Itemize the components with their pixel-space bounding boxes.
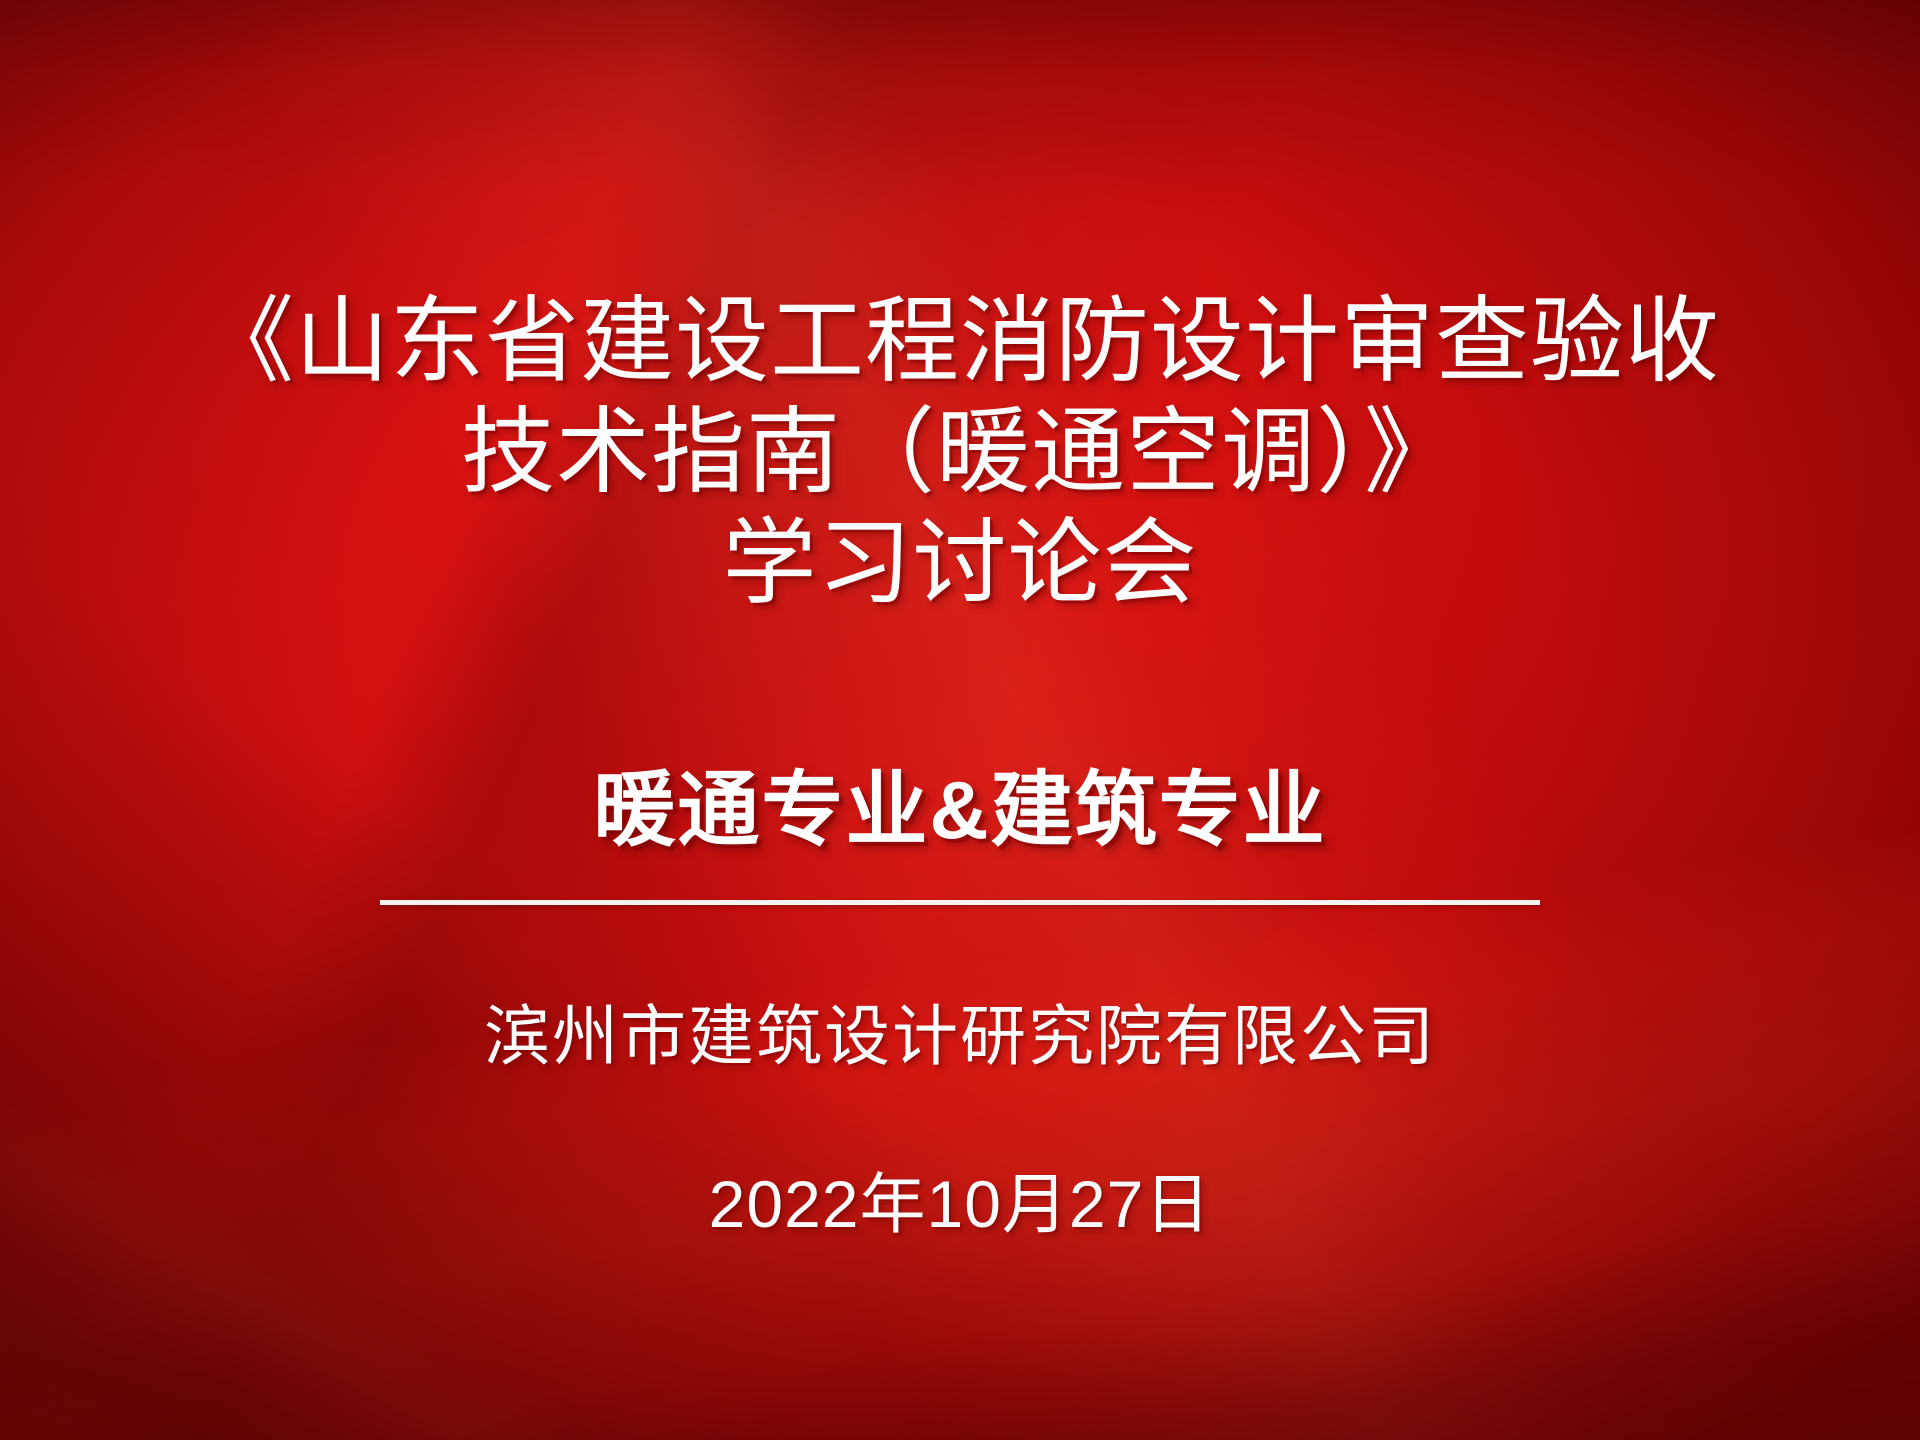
presentation-date: 2022年10月27日 — [709, 1151, 1212, 1247]
page-title: 《山东省建设工程消防设计审查验收 技术指南（暖通空调）》 学习讨论会 — [140, 286, 1780, 619]
title-divider — [380, 900, 1540, 905]
page-title-line-3: 学习讨论会 — [140, 508, 1780, 619]
page-title-line-2: 技术指南（暖通空调）》 — [140, 397, 1780, 508]
page-subtitle: 暖通专业&建筑专业 — [593, 766, 1326, 856]
page-title-line-1: 《山东省建设工程消防设计审查验收 — [140, 286, 1780, 397]
presentation-title-slide: 《山东省建设工程消防设计审查验收 技术指南（暖通空调）》 学习讨论会 暖通专业&… — [0, 0, 1920, 1440]
organization-name: 滨州市建筑设计研究院有限公司 — [484, 983, 1436, 1079]
slide-content: 《山东省建设工程消防设计审查验收 技术指南（暖通空调）》 学习讨论会 暖通专业&… — [0, 0, 1920, 1440]
